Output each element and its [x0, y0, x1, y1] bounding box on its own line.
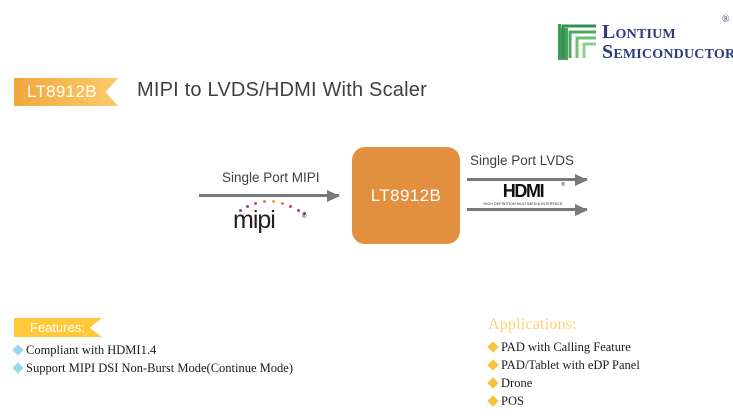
mipi-logo: mipi ® — [233, 200, 311, 232]
features-badge: Features: — [14, 318, 102, 337]
list-item-label: PAD/Tablet with eDP Panel — [501, 356, 640, 374]
lvds-output-caption: Single Port LVDS — [470, 153, 574, 168]
list-item-label: Drone — [501, 374, 532, 392]
applications-list: PAD with Calling Feature PAD/Tablet with… — [488, 338, 728, 411]
page-title: MIPI to LVDS/HDMI With Scaler — [137, 79, 427, 102]
hdmi-tagline: HIGH DEFINITION MULTIMEDIA INTERFACE — [482, 202, 564, 206]
list-item: PAD with Calling Feature — [489, 338, 728, 356]
nested-corners-logo-icon — [556, 18, 600, 62]
applications-section: Applications: PAD with Calling Feature P… — [488, 316, 728, 410]
list-item: PAD/Tablet with eDP Panel — [489, 356, 728, 374]
page-title-row: LT8912B MIPI to LVDS/HDMI With Scaler — [0, 78, 733, 110]
diamond-bullet-icon — [487, 377, 498, 388]
logo-text-line1: Lontium — [602, 22, 676, 42]
mipi-wordmark: mipi — [233, 208, 275, 233]
part-number-label: LT8912B — [14, 82, 97, 102]
diamond-bullet-icon — [487, 341, 498, 352]
list-item: Support MIPI DSI Non-Burst Mode(Continue… — [14, 359, 444, 377]
list-item-label: Support MIPI DSI Non-Burst Mode(Continue… — [26, 359, 293, 377]
features-list: Compliant with HDMI1.4 Support MIPI DSI … — [14, 341, 444, 377]
chip-label: LT8912B — [371, 186, 442, 206]
block-diagram: LT8912B Single Port MIPI mipi ® Single P… — [0, 130, 733, 265]
applications-heading: Applications: — [488, 316, 728, 334]
hdmi-output-arrow-icon — [467, 208, 587, 211]
features-section: Features: Compliant with HDMI1.4 Support… — [14, 318, 444, 377]
diamond-bullet-icon — [12, 363, 23, 374]
input-arrow-icon — [199, 194, 339, 197]
diamond-bullet-icon — [487, 359, 498, 370]
logo-text-line2: Semiconductor — [602, 42, 733, 62]
list-item-label: Compliant with HDMI1.4 — [26, 341, 156, 359]
list-item-label: POS — [501, 392, 524, 410]
hdmi-wordmark: HDMI — [482, 182, 564, 200]
input-caption: Single Port MIPI — [222, 170, 320, 185]
list-item: POS — [489, 392, 728, 410]
hdmi-trademark-icon: ® — [561, 182, 565, 188]
list-item-label: PAD with Calling Feature — [501, 338, 631, 356]
list-item: Drone — [489, 374, 728, 392]
diamond-bullet-icon — [487, 395, 498, 406]
mipi-trademark-icon: ® — [302, 214, 306, 220]
diamond-bullet-icon — [12, 344, 23, 355]
company-logo: Lontium Semiconductor ® — [556, 14, 728, 64]
chip-block: LT8912B — [352, 147, 460, 244]
registered-trademark-icon: ® — [722, 14, 730, 25]
hdmi-logo: HDMI HIGH DEFINITION MULTIMEDIA INTERFAC… — [482, 182, 564, 206]
part-number-badge: LT8912B — [14, 78, 118, 106]
features-heading: Features: — [14, 320, 85, 335]
list-item: Compliant with HDMI1.4 — [14, 341, 444, 359]
